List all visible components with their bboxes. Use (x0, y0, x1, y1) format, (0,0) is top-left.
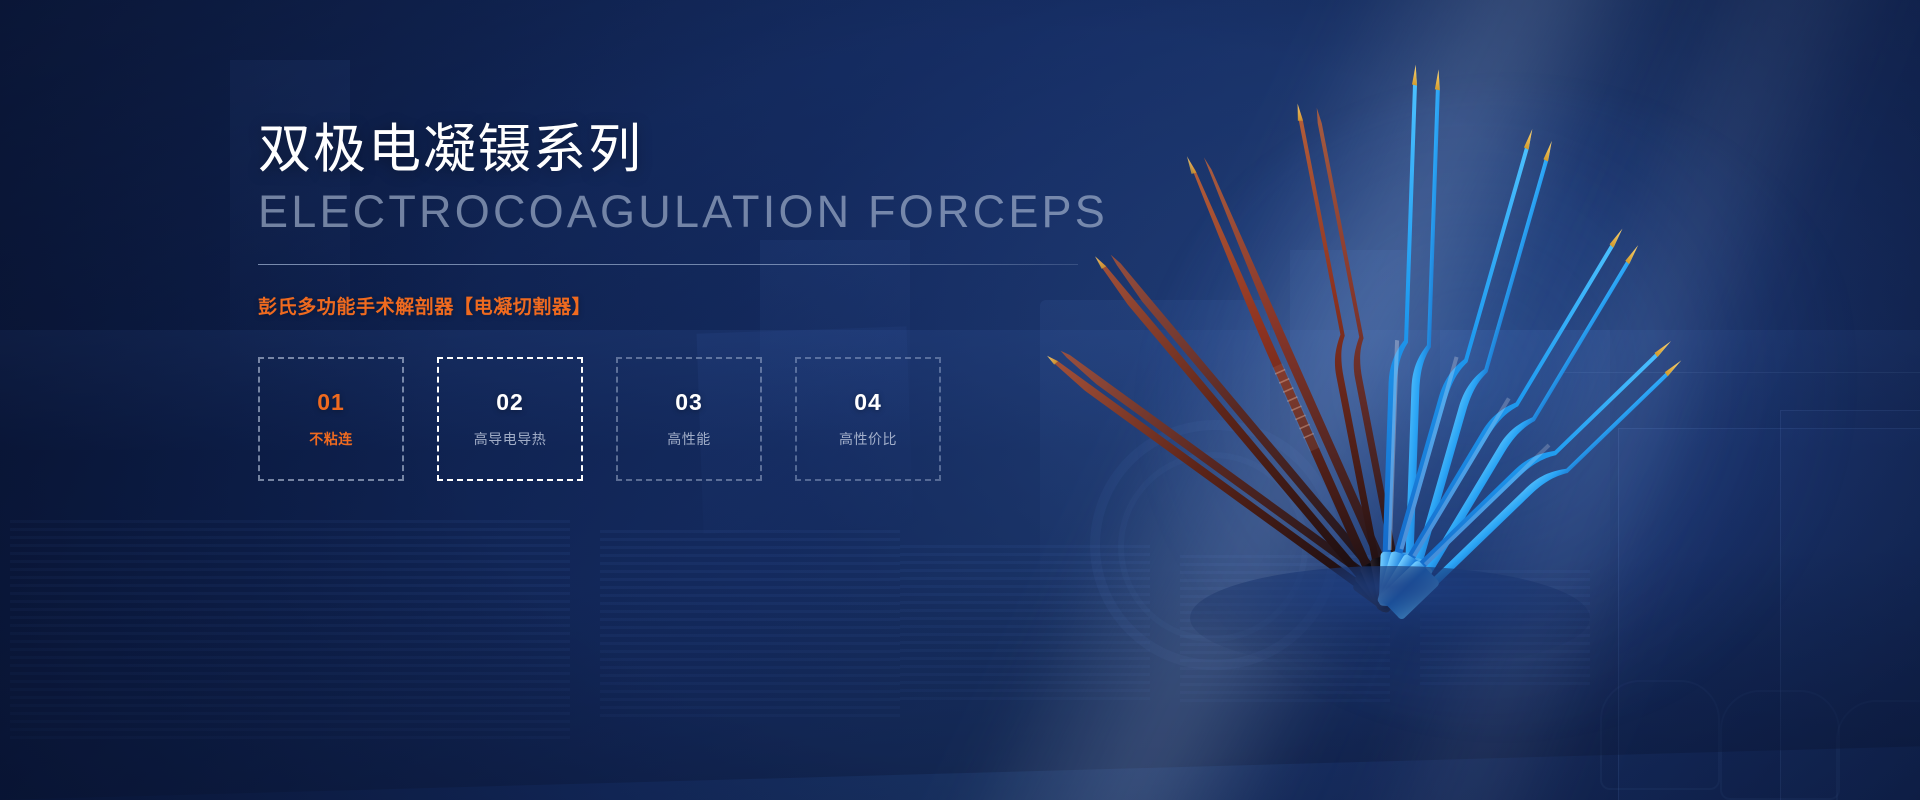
feature-label: 高导电导热 (474, 429, 547, 449)
feature-number: 01 (317, 389, 345, 416)
feature-number: 02 (496, 389, 524, 416)
feature-label: 高性能 (667, 429, 711, 449)
banner-content: 双极电凝镊系列 ELECTROCOAGULATION FORCEPS 彭氏多功能… (258, 120, 1138, 481)
divider-line (258, 264, 1078, 265)
feature-card-02[interactable]: 02 高导电导热 (437, 357, 583, 481)
feature-label: 不粘连 (309, 429, 353, 449)
product-subtitle: 彭氏多功能手术解剖器【电凝切割器】 (258, 292, 1138, 319)
feature-card-03[interactable]: 03 高性能 (616, 357, 762, 481)
feature-list: 01 不粘连 02 高导电导热 03 高性能 04 高性价比 (258, 357, 1138, 481)
feature-card-04[interactable]: 04 高性价比 (795, 357, 941, 481)
product-banner: 双极电凝镊系列 ELECTROCOAGULATION FORCEPS 彭氏多功能… (0, 0, 1920, 800)
forceps-blue-2 (1377, 124, 1556, 615)
product-image-forceps-fan (1080, 40, 1700, 660)
feature-number: 04 (854, 389, 882, 416)
page-title-cn: 双极电凝镊系列 (258, 120, 1138, 181)
feature-number: 03 (675, 389, 703, 416)
feature-label: 高性价比 (839, 429, 897, 449)
page-title-en: ELECTROCOAGULATION FORCEPS (258, 187, 1138, 237)
feature-card-01[interactable]: 01 不粘连 (258, 357, 404, 481)
